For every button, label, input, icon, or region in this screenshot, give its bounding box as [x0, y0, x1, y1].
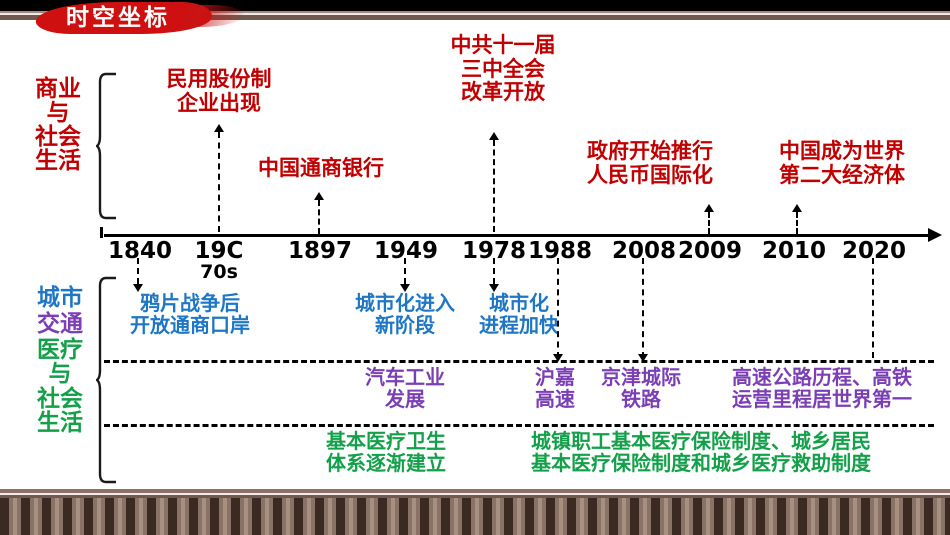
- page-title: 时空坐标: [66, 4, 170, 32]
- axis-start-cap: [100, 227, 103, 238]
- row-divider-city-transport: [104, 360, 934, 363]
- event-transport-2: 沪嘉 高速: [523, 366, 587, 411]
- arrow-up-2009: [704, 204, 714, 212]
- row-divider-transport-medical: [104, 424, 934, 427]
- bottom-fence-pattern: [0, 495, 950, 535]
- dash-2020-dn: [872, 258, 874, 358]
- event-commerce-1: 民用股份制 企业出现: [139, 68, 299, 115]
- year-tick-1840: 1840: [108, 238, 170, 264]
- event-city-1: 鸦片战争后 开放通商口岸: [110, 292, 270, 337]
- banner-brush-tail: [183, 5, 247, 27]
- bottom-fence-top-edge: [0, 495, 950, 498]
- arrow-up-1978: [489, 132, 499, 140]
- slide-canvas: 时空坐标 商业 与 社会 生活 民用股份制 企业出现 中国通商银行 中共十一届 …: [0, 0, 950, 535]
- year-tick-2009: 2009: [678, 238, 740, 264]
- year-tick-19c-sub: 70s: [188, 261, 250, 283]
- event-transport-3: 京津城际 铁路: [589, 366, 693, 411]
- axis-arrowhead: [928, 228, 942, 242]
- event-medical-2: 城镇职工基本医疗保险制度、城乡居民 基本医疗保险制度和城乡医疗救助制度: [466, 430, 936, 475]
- dash-1897-up: [318, 200, 320, 234]
- year-tick-1988: 1988: [528, 238, 590, 264]
- event-commerce-4: 政府开始推行 人民币国际化: [562, 140, 738, 187]
- dash-19c70s-up: [218, 132, 220, 232]
- dash-1988-dn: [557, 258, 559, 358]
- section-label-commerce: 商业 与 社会 生活: [22, 78, 94, 174]
- section-label-transport: 交通: [24, 312, 96, 336]
- section-label-city: 城市: [24, 286, 96, 310]
- arrow-up-2010: [792, 204, 802, 212]
- arrow-up-19c70s: [214, 124, 224, 132]
- brace-commerce: [96, 72, 118, 220]
- dash-2009-up: [708, 212, 710, 234]
- dash-1978-up: [493, 140, 495, 232]
- title-banner: 时空坐标: [36, 2, 216, 36]
- event-transport-1: 汽车工业 发展: [325, 366, 485, 411]
- year-tick-1897: 1897: [288, 238, 350, 264]
- arrow-dn-2008: [638, 354, 648, 362]
- dash-2010-up: [796, 212, 798, 234]
- arrow-up-1897: [314, 192, 324, 200]
- event-city-3: 城市化 进程加快: [459, 292, 579, 337]
- arrow-dn-1988: [553, 354, 563, 362]
- dash-1978-dn: [493, 258, 495, 284]
- event-transport-4: 高速公路历程、高铁 运营里程居世界第一: [697, 366, 947, 411]
- event-commerce-3: 中共十一届 三中全会 改革开放: [428, 34, 578, 105]
- dash-2008-dn: [642, 258, 644, 358]
- event-commerce-5: 中国成为世界 第二大经济体: [752, 140, 932, 187]
- dash-1840-dn: [137, 258, 139, 284]
- section-label-medical: 医疗 与 社会 生活: [24, 338, 96, 436]
- event-commerce-2: 中国通商银行: [236, 157, 406, 181]
- event-medical-1: 基本医疗卫生 体系逐渐建立: [303, 430, 469, 475]
- year-tick-2010: 2010: [762, 238, 824, 264]
- dash-1949-dn: [404, 258, 406, 284]
- timeline-axis: [104, 234, 932, 237]
